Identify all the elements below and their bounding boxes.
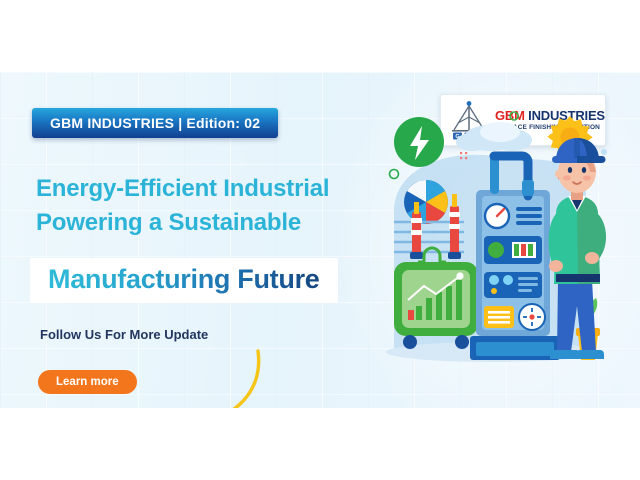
pie-chart-icon: [404, 180, 448, 224]
follow-us-text: Follow Us For More Update: [40, 327, 208, 342]
headline-line-1: Energy-Efficient Industrial: [36, 172, 376, 206]
headline-highlight-text: Manufacturing Future: [48, 264, 320, 295]
marketing-banner: GBM INDUSTRIES | Edition: 02 G B: [0, 72, 640, 408]
banner-page: GBM INDUSTRIES | Edition: 02 G B: [0, 0, 640, 480]
industrial-illustration: [372, 94, 638, 394]
headline-block: Energy-Efficient Industrial Powering a S…: [36, 172, 376, 240]
edition-badge: GBM INDUSTRIES | Edition: 02: [32, 108, 278, 138]
headline-line-2: Powering a Sustainable: [36, 206, 376, 240]
energy-lightning-badge-icon: [394, 117, 444, 167]
analytics-case-icon: [394, 248, 478, 349]
headline-highlight-band: Manufacturing Future: [30, 258, 338, 303]
learn-more-button[interactable]: Learn more: [38, 370, 137, 394]
